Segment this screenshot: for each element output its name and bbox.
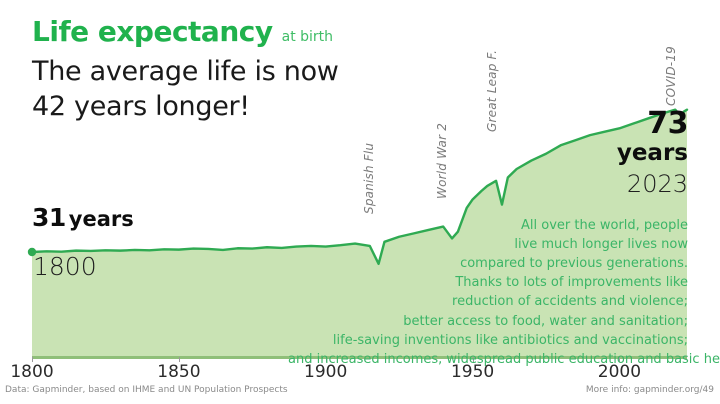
chart-title-row: Life expectancy at birth [32, 18, 333, 46]
start-value: 31 [32, 203, 66, 232]
description-line: live much longer lives now [288, 235, 688, 254]
description-line: and increased incomes, widespread public… [288, 350, 688, 369]
end-value: 73 [617, 108, 688, 140]
start-year-label: 1800 [33, 252, 97, 281]
description-line: reduction of accidents and violence; [288, 292, 688, 311]
page-subtitle: at birth [282, 30, 333, 44]
end-unit: years [617, 141, 688, 165]
x-tick-label: 1850 [157, 362, 200, 382]
x-tick-label: 1800 [10, 362, 53, 382]
page-title: Life expectancy [32, 18, 273, 46]
end-value-label: 73 years [617, 108, 688, 165]
description-line: Thanks to lots of improvements like [288, 273, 688, 292]
end-year-label: 2023 [627, 170, 688, 198]
start-unit: years [69, 207, 134, 231]
event-annotation: World War 2 [435, 123, 449, 199]
more-info-note: More info: gapminder.org/49 [586, 385, 714, 395]
description-paragraph: All over the world, peoplelive much long… [288, 216, 688, 369]
source-note: Data: Gapminder, based on IHME and UN Po… [5, 385, 288, 395]
headline-text: The average life is now 42 years longer! [32, 55, 362, 125]
description-line: All over the world, people [288, 216, 688, 235]
event-annotation: Spanish Flu [362, 143, 376, 214]
start-value-label: 31years [32, 203, 134, 232]
infographic-root: 18001850190019502000 Life expectancy at … [0, 0, 720, 404]
description-line: life-saving inventions like antibiotics … [288, 331, 688, 350]
event-annotation: COVID-19 [664, 46, 678, 106]
description-line: compared to previous generations. [288, 254, 688, 273]
event-annotation: Great Leap F. [485, 50, 499, 132]
description-line: better access to food, water and sanitat… [288, 312, 688, 331]
